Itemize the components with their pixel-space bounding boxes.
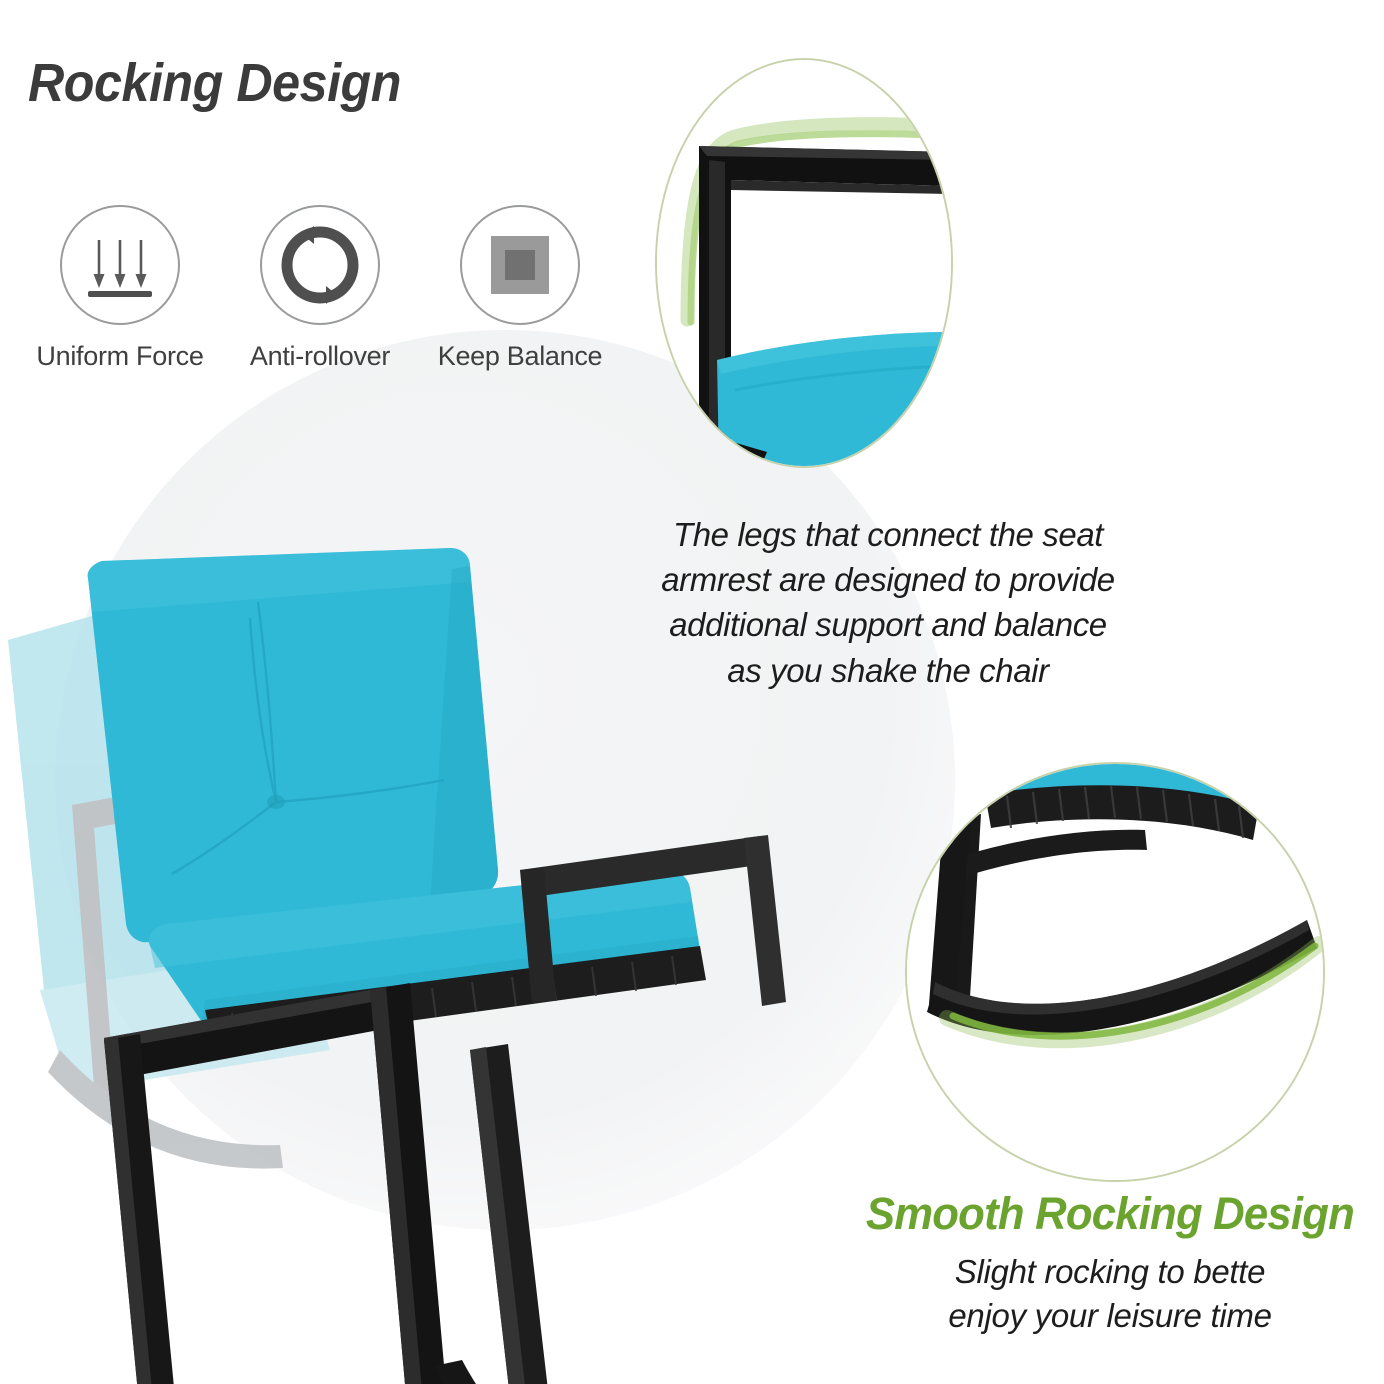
- feature-circle-uniform-force: [60, 205, 180, 325]
- promo-subtitle: Slight rocking to bette enjoy your leisu…: [836, 1250, 1384, 1338]
- promo-block: Smooth Rocking Design Slight rocking to …: [836, 1188, 1384, 1338]
- page-title: Rocking Design: [28, 52, 401, 114]
- feature-anti-rollover: Anti-rollover: [220, 205, 420, 395]
- feature-icon-row: Uniform Force Anti-rollover: [20, 205, 620, 395]
- promo-subtitle-line-2: enjoy your leisure time: [836, 1294, 1384, 1338]
- rocking-chair-illustration: [0, 350, 840, 1350]
- feature-keep-balance: Keep Balance: [420, 205, 620, 395]
- feature-label-anti-rollover: Anti-rollover: [250, 341, 390, 372]
- feature-label-keep-balance: Keep Balance: [438, 341, 603, 372]
- rocker-runner-far: [434, 1360, 746, 1384]
- inset-armrest-leg-detail: [655, 58, 953, 468]
- circular-rotation-arrows-icon: [277, 222, 363, 308]
- down-arrows-on-bar-icon: [77, 222, 163, 308]
- body-copy-line-1: The legs that connect the seat: [612, 512, 1164, 557]
- body-copy-line-4: as you shake the chair: [612, 648, 1164, 693]
- promo-subtitle-line-1: Slight rocking to bette: [836, 1250, 1384, 1294]
- feature-uniform-force: Uniform Force: [20, 205, 220, 395]
- rocking-chair-infographic: Rocking Design: [0, 0, 1384, 1384]
- body-copy-line-3: additional support and balance: [612, 602, 1164, 647]
- inset-rocker-base-detail: [905, 762, 1325, 1182]
- feature-circle-anti-rollover: [260, 205, 380, 325]
- feature-circle-keep-balance: [460, 205, 580, 325]
- promo-title: Smooth Rocking Design: [844, 1188, 1376, 1240]
- feature-label-uniform-force: Uniform Force: [36, 341, 203, 372]
- nested-square-icon: [477, 222, 563, 308]
- armrest-description-text: The legs that connect the seat armrest a…: [612, 512, 1164, 693]
- body-copy-line-2: armrest are designed to provide: [612, 557, 1164, 602]
